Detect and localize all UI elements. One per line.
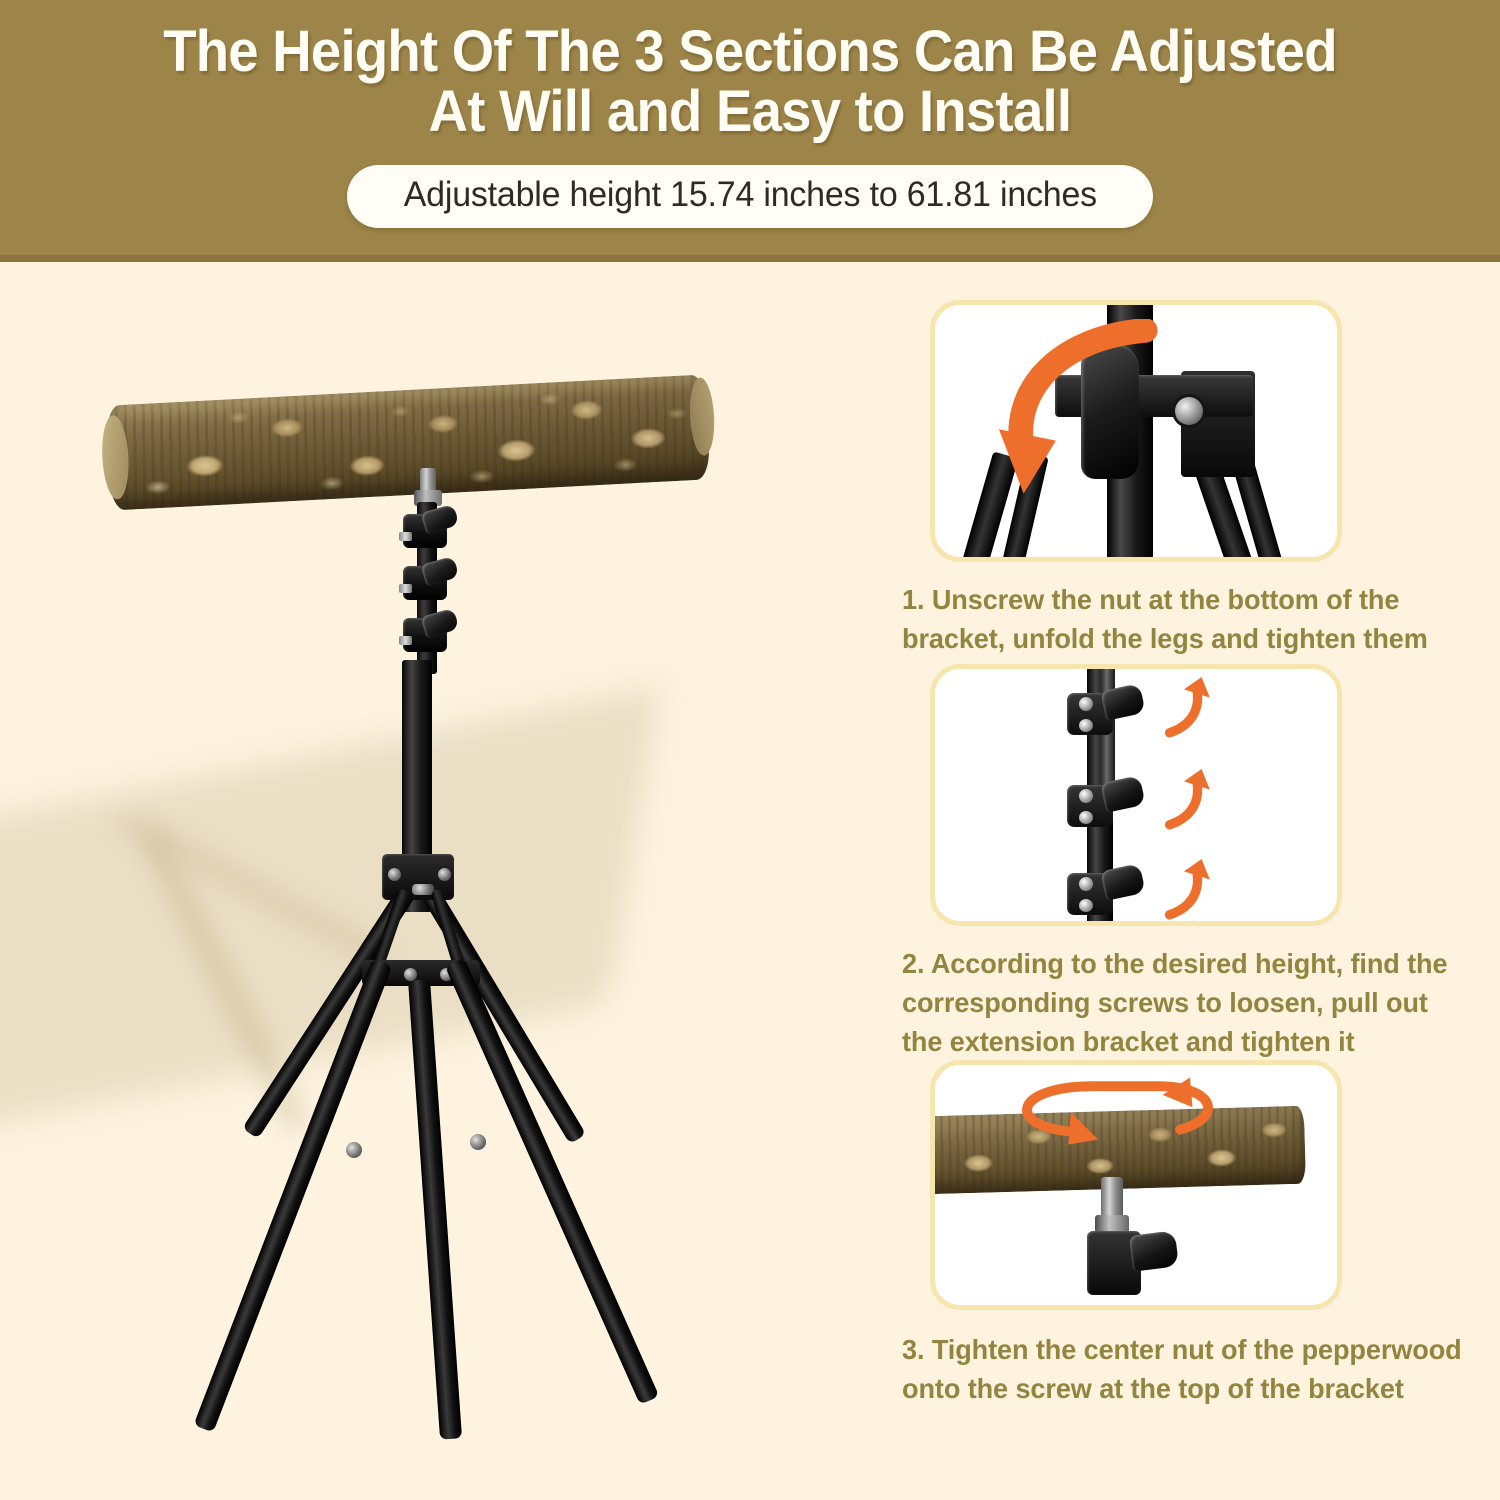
clamp-pin (399, 584, 412, 593)
leg-bolt-left (346, 1142, 362, 1158)
clamp-screw-upper (1079, 877, 1093, 891)
clamp-knob-handle (1100, 775, 1145, 813)
step-1-caption: 1. Unscrew the nut at the bottom of the … (902, 580, 1463, 658)
loosen-arrow-icon-1 (1149, 677, 1219, 739)
clamp-knob-2 (397, 558, 459, 606)
extension-clamp-2 (1067, 779, 1145, 831)
extension-clamp-3 (1067, 867, 1145, 919)
wooden-perch-texture (106, 374, 711, 510)
clamp-screw-lower (1079, 811, 1093, 824)
loosen-arrow-icon-3 (1149, 859, 1219, 921)
extension-clamp-1 (1067, 687, 1145, 739)
hub-bolt-left (388, 868, 401, 881)
tighten-rotation-arrow-icon (993, 1075, 1243, 1147)
clamp-knob-handle (1100, 683, 1145, 721)
wooden-perch (106, 374, 711, 510)
clamp-knob-1 (397, 506, 459, 554)
rotate-arrow-icon (997, 319, 1187, 509)
product-photo (0, 262, 880, 1500)
step-1-image (930, 300, 1342, 562)
clamp-knob-3 (397, 610, 459, 658)
page-title-line-2: At Will and Easy to Install (92, 82, 1408, 142)
clamp-screw-upper (1079, 697, 1093, 711)
clamp-knob-handle (1100, 863, 1145, 901)
clamp-screw-lower (1079, 719, 1093, 732)
step-2-caption: 2. According to the desired height, find… (902, 944, 1468, 1061)
page-title-line-1: The Height Of The 3 Sections Can Be Adju… (163, 19, 1337, 84)
step-3-caption: 3. Tighten the center nut of the pepperw… (902, 1330, 1478, 1408)
tripod-leg-front-right (445, 958, 659, 1405)
step-2-image (930, 664, 1342, 926)
tripod-leg-center (408, 979, 462, 1439)
brace-bolt-left (404, 968, 417, 981)
clamp-screw-lower (1079, 899, 1093, 912)
clamp-knob-handle (421, 504, 460, 535)
leg-bolt-right (470, 1134, 486, 1150)
clamp-pin (399, 532, 412, 541)
clamp-screw-upper (1079, 789, 1093, 803)
instruction-steps: 1. Unscrew the nut at the bottom of the … (880, 262, 1500, 1500)
page-title: The Height Of The 3 Sections Can Be Adju… (92, 22, 1408, 141)
adjustable-height-badge: Adjustable height 15.74 inches to 61.81 … (347, 165, 1154, 228)
loosen-arrow-icon-2 (1149, 769, 1219, 831)
clamp-knob-handle (421, 608, 460, 639)
telescoping-clamp-stack (399, 502, 459, 672)
header-banner: The Height Of The 3 Sections Can Be Adju… (0, 0, 1500, 262)
step-3-image (930, 1060, 1342, 1310)
clamp-knob-handle (421, 556, 460, 587)
hub-bolt-right (438, 868, 451, 881)
clamp-pin (399, 636, 412, 645)
mount-knob-handle (1129, 1230, 1179, 1271)
adjustable-height-badge-label: Adjustable height 15.74 inches to 61.81 … (403, 175, 1096, 215)
